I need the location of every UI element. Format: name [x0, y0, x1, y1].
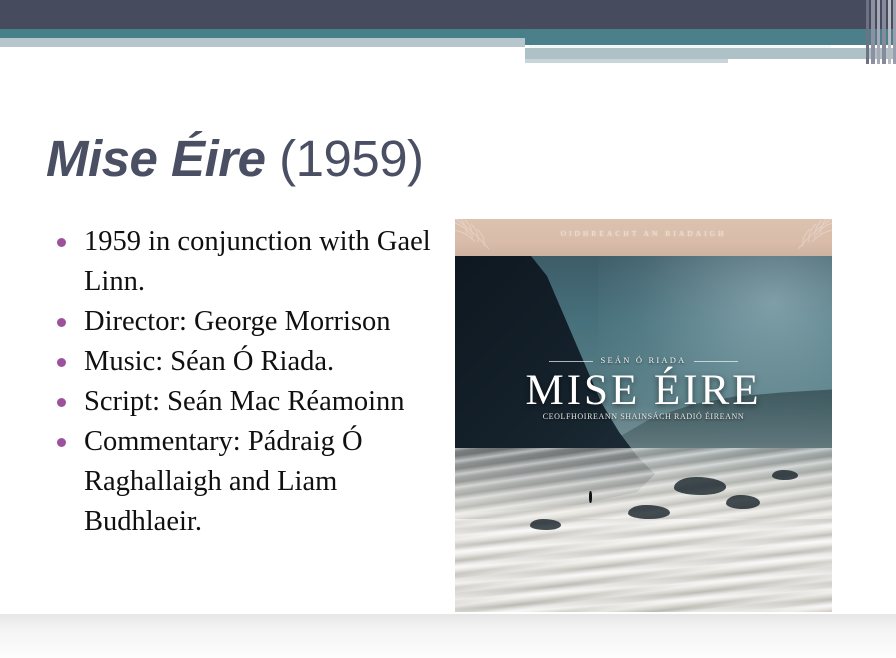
surf-rock [530, 519, 560, 530]
bullet-text: 1959 in conjunction with Gael Linn. [84, 226, 431, 297]
slide-title-year: (1959) [265, 130, 423, 187]
header-vertical-stripe [871, 0, 875, 64]
album-artist-line: SEÁN Ó RIADA [455, 355, 832, 365]
album-banner-text: OIDHREACHT AN RIADAIGH [455, 229, 832, 238]
lone-figure [589, 491, 592, 503]
bullet-dot-icon [57, 318, 66, 327]
album-top-banner: OIDHREACHT AN RIADAIGH [455, 219, 832, 256]
bullet-list-item: Script: Seán Mac Réamoinn [48, 382, 440, 422]
bullet-list-item: Music: Séan Ó Riada. [48, 342, 440, 382]
album-title: MISE ÉIRE [455, 367, 832, 415]
bullet-dot-icon [57, 358, 66, 367]
header-band-teal-right [525, 29, 896, 45]
bullet-text: Commentary: Pádraig Ó Raghallaigh and Li… [84, 426, 363, 537]
header-band-dark [0, 0, 896, 29]
album-cover-image: SEÁN Ó RIADA MISE ÉIRE CEOLFHOIREANN SHA… [455, 219, 832, 612]
header-vertical-stripe [882, 0, 886, 64]
bullet-dot-icon [57, 398, 66, 407]
bullet-list-item: Director: George Morrison [48, 302, 440, 342]
bullet-list-item: Commentary: Pádraig Ó Raghallaigh and Li… [48, 422, 440, 542]
bullet-text: Director: George Morrison [84, 306, 391, 337]
album-cover-photo: SEÁN Ó RIADA MISE ÉIRE CEOLFHOIREANN SHA… [455, 256, 832, 612]
slide-footer-strip [0, 614, 896, 658]
rule-right-icon [694, 361, 738, 362]
header-vertical-stripe [888, 0, 891, 64]
surf-rock [674, 477, 727, 495]
bullet-text: Script: Seán Mac Réamoinn [84, 386, 405, 417]
bullet-text: Music: Séan Ó Riada. [84, 346, 334, 377]
album-subtitle: CEOLFHOIREANN SHAINSÁCH RADIÓ ÉIREANN [455, 412, 832, 421]
feather-ornament-left-icon [455, 219, 509, 259]
header-vertical-stripe [866, 0, 869, 64]
sea-foam-near [455, 519, 832, 612]
slide-bullet-list: 1959 in conjunction with Gael Linn.Direc… [48, 222, 440, 542]
slide-header-decoration [0, 0, 896, 64]
surf-rock [628, 505, 669, 519]
presentation-slide: Mise Éire (1959) 1959 in conjunction wit… [0, 0, 896, 658]
bullet-list-item: 1959 in conjunction with Gael Linn. [48, 222, 440, 302]
header-band-stub [525, 59, 728, 63]
surf-rock [772, 470, 798, 481]
bullet-dot-icon [57, 438, 66, 447]
header-band-pale-left [0, 38, 525, 47]
rule-left-icon [549, 361, 593, 362]
header-vertical-stripe [877, 0, 880, 64]
album-artist-name: SEÁN Ó RIADA [601, 355, 687, 365]
bullet-dot-icon [57, 238, 66, 247]
feather-ornament-right-icon [778, 219, 832, 259]
header-band-pale-right [525, 48, 896, 59]
slide-title-film-name: Mise Éire [46, 130, 265, 187]
slide-title: Mise Éire (1959) [46, 128, 424, 190]
